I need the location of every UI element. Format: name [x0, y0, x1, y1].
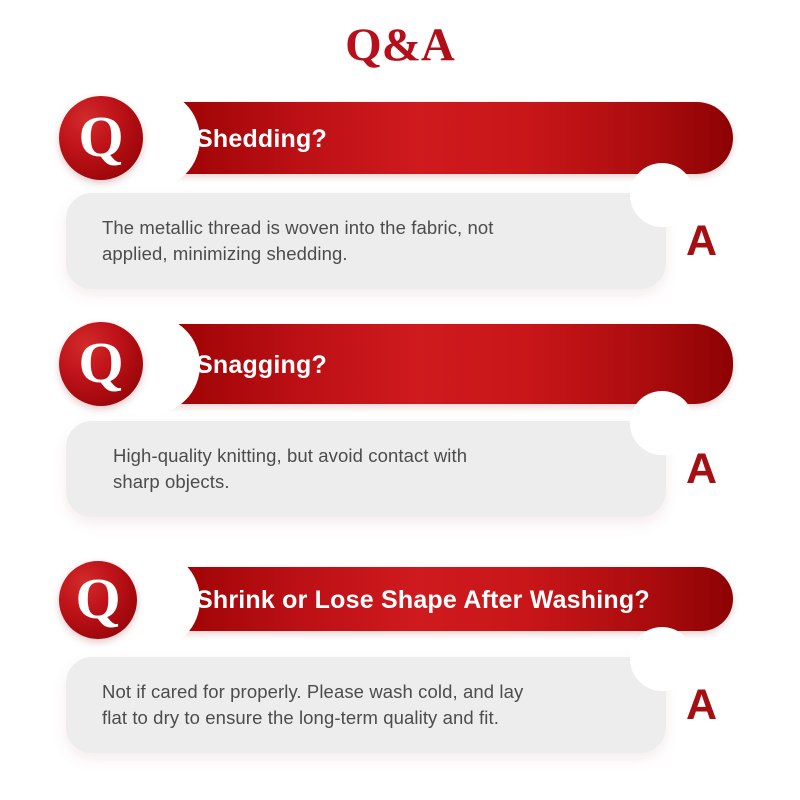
answer-text-line: applied, minimizing shedding.: [102, 241, 494, 267]
answer-text-line: Not if cared for properly. Please wash c…: [102, 679, 523, 705]
answer-box-notch: [630, 391, 694, 455]
question-text: Shedding?: [196, 96, 327, 182]
answer-text: High-quality knitting, but avoid contact…: [113, 421, 467, 517]
question-row-3[interactable]: Q Shrink or Lose Shape After Washing?: [0, 557, 800, 643]
answer-text-line: flat to dry to ensure the long-term qual…: [102, 705, 523, 731]
question-badge: Q: [59, 322, 143, 406]
question-badge-letter: Q: [78, 334, 123, 392]
question-text: Snagging?: [196, 322, 327, 408]
question-row-2[interactable]: Q Snagging?: [0, 322, 800, 408]
answer-row-1: The metallic thread is woven into the fa…: [0, 193, 800, 289]
answer-text: Not if cared for properly. Please wash c…: [102, 657, 523, 753]
qa-infographic: Q&A Q Shedding? The metallic thread is w…: [0, 0, 800, 800]
answer-box-notch: [630, 163, 694, 227]
answer-text-line: sharp objects.: [113, 469, 467, 495]
question-badge-letter: Q: [78, 108, 123, 166]
question-badge: Q: [59, 561, 137, 639]
answer-badge-letter: A: [686, 657, 717, 753]
answer-text-line: The metallic thread is woven into the fa…: [102, 215, 494, 241]
page-title: Q&A: [0, 22, 800, 69]
answer-badge-letter: A: [686, 421, 717, 517]
answer-row-3: Not if cared for properly. Please wash c…: [0, 657, 800, 753]
qa-block-3: Q Shrink or Lose Shape After Washing? No…: [0, 557, 800, 753]
qa-block-2: Q Snagging? High-quality knitting, but a…: [0, 322, 800, 517]
answer-text-line: High-quality knitting, but avoid contact…: [113, 443, 467, 469]
qa-block-1: Q Shedding? The metallic thread is woven…: [0, 96, 800, 289]
question-badge: Q: [59, 96, 143, 180]
answer-box-notch: [630, 627, 694, 691]
answer-text: The metallic thread is woven into the fa…: [102, 193, 494, 289]
question-text: Shrink or Lose Shape After Washing?: [196, 557, 650, 643]
answer-row-2: High-quality knitting, but avoid contact…: [0, 421, 800, 517]
answer-badge-letter: A: [686, 193, 717, 289]
question-badge-letter: Q: [75, 570, 120, 628]
